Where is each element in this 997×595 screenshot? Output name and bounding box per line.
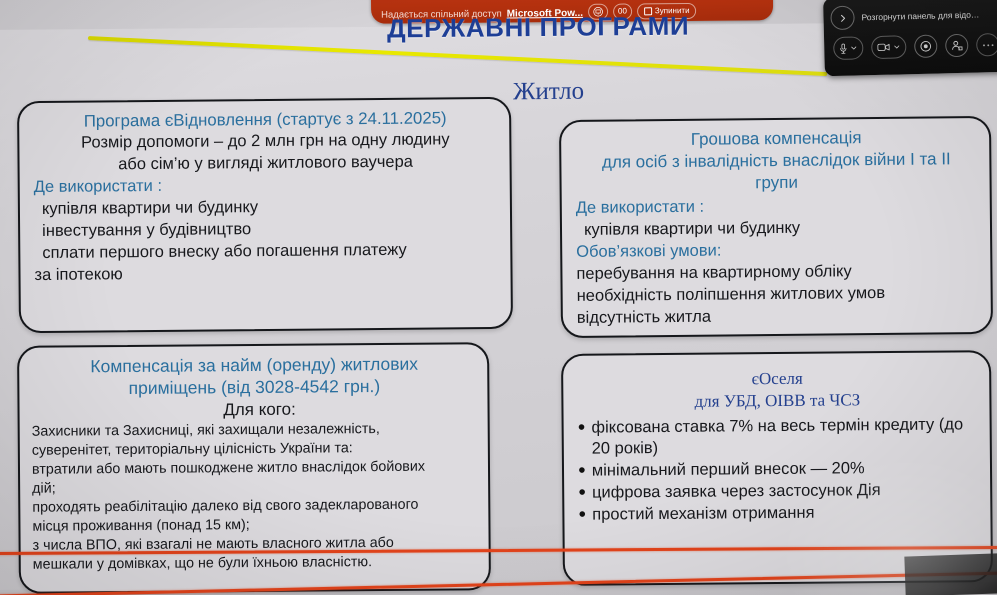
- eoselya-bullet-4: простий механізм отримання: [592, 503, 814, 527]
- eoselya-bullet-list: ●фіксована ставка 7% на весь термін кред…: [578, 414, 979, 527]
- expand-panel-label: Розгорнути панель для відоб...: [861, 9, 979, 22]
- bullet-dot-icon: ●: [578, 507, 586, 520]
- eoselya-bullet-2: мінімальний перший внесок — 20%: [592, 459, 865, 483]
- meeting-control-panel[interactable]: Розгорнути панель для відоб...: [823, 0, 997, 76]
- evidnovlennya-item-4: за іпотекою: [34, 261, 498, 287]
- meeting-panel-controls: [824, 26, 997, 61]
- card-evidnovlennya: Програма єВідновлення (стартує з 24.11.2…: [17, 97, 513, 333]
- chevron-down-icon: [850, 44, 857, 51]
- more-options-icon[interactable]: [976, 33, 997, 57]
- groshova-condition-3: відсутність житла: [577, 304, 979, 330]
- groshova-heading-3: групи: [575, 170, 977, 196]
- card-naym-kompensatsiya: Компенсація за найм (оренду) житлових пр…: [17, 342, 491, 594]
- screenshot-root: Надається спільний доступ Microsoft Pow.…: [0, 0, 997, 595]
- chevron-down-icon: [893, 43, 900, 50]
- card-groshova-kompensatsiya: Грошова компенсація для осіб з інвалідні…: [559, 116, 993, 338]
- eoselya-bullet-3: цифрова заявка через застосунок Дія: [592, 480, 881, 504]
- list-item: ●фіксована ставка 7% на весь термін кред…: [578, 414, 978, 461]
- naym-body-5: проходять реабілітацію далеко від свого …: [32, 495, 478, 518]
- mic-icon[interactable]: [833, 36, 864, 60]
- eoselya-heading-2: для УБД, ОІВВ та ЧСЗ: [577, 388, 977, 413]
- bullet-dot-icon: ●: [578, 485, 586, 498]
- slide-subtitle: Житло: [513, 78, 584, 107]
- page-title: ДЕРЖАВНІ ПРОГРАМИ: [387, 11, 689, 45]
- chevron-right-icon[interactable]: [830, 6, 855, 31]
- naym-heading-1: Компенсація за найм (оренду) житлових: [31, 352, 477, 378]
- bullet-dot-icon: ●: [578, 463, 586, 476]
- bullet-dot-icon: ●: [578, 419, 586, 432]
- camera-icon[interactable]: [871, 35, 907, 59]
- naym-body-8: мешкали у домівках, що не були їхньою вл…: [33, 552, 479, 575]
- naym-body-3: втратили або мають пошкоджене житло внас…: [32, 457, 478, 480]
- evidnovlennya-line-1: Розмір допомоги – до 2 млн грн на одну л…: [33, 129, 497, 155]
- dark-corner-shadow: [904, 553, 997, 595]
- participants-icon[interactable]: [945, 34, 969, 58]
- record-icon[interactable]: [914, 35, 938, 59]
- groshova-heading-2: для осіб з інвалідність внаслідок війни …: [575, 148, 977, 174]
- list-item: ●простий механізм отримання: [578, 501, 978, 526]
- eoselya-bullet-1: фіксована ставка 7% на весь термін креди…: [591, 414, 978, 461]
